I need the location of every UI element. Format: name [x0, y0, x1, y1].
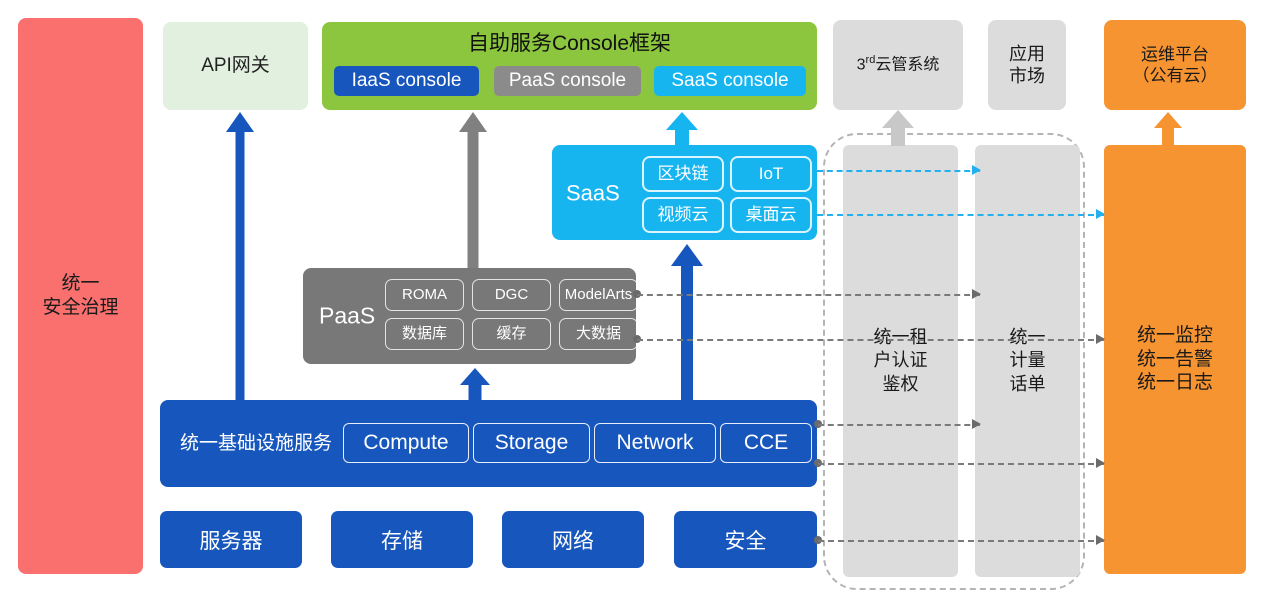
- ops-platform-label: 运维平台 （公有云）: [1133, 44, 1218, 87]
- paas-console-chip[interactable]: PaaS console: [494, 66, 641, 96]
- iaas-bar[interactable]: 统一基础设施服务 Compute Storage Network CCE: [160, 400, 817, 487]
- security-governance-column[interactable]: 统一 安全治理: [18, 18, 143, 574]
- dashed-iaas-to-ops-column: [818, 463, 1104, 465]
- saas-chip-desktop-cloud[interactable]: 桌面云: [730, 197, 812, 233]
- arrowhead-paas-to-billing-column: [972, 289, 981, 299]
- paas-chip-modelarts[interactable]: ModelArts: [559, 279, 638, 311]
- metering-billing-column[interactable]: 统一 计量 话单: [975, 145, 1080, 577]
- console-framework-title: 自助服务Console框架: [322, 31, 817, 57]
- paas-chip-roma[interactable]: ROMA: [385, 279, 464, 311]
- iaas-label: 统一基础设施服务: [180, 432, 332, 456]
- dashed-saas-to-ops-column: [817, 214, 1104, 216]
- bottom-box-network[interactable]: 网络: [502, 511, 644, 568]
- ops-monitoring-label: 统一监控 统一告警 统一日志: [1137, 324, 1213, 395]
- saas-chip-video-cloud[interactable]: 视频云: [642, 197, 724, 233]
- dashed-iaas-to-billing-column: [818, 424, 980, 426]
- arrow-shared-services-to-third-party-cloud: [882, 110, 914, 146]
- iaas-console-label: IaaS console: [352, 69, 462, 93]
- tenant-auth-label: 统一租 户认证 鉴权: [874, 326, 928, 396]
- app-market-label: 应用 市场: [1009, 43, 1045, 88]
- security-governance-label: 统一 安全治理: [42, 272, 118, 320]
- ops-monitoring-column[interactable]: 统一监控 统一告警 统一日志: [1104, 145, 1246, 574]
- paas-chip-database[interactable]: 数据库: [385, 318, 464, 350]
- iaas-console-chip[interactable]: IaaS console: [334, 66, 479, 96]
- ops-platform-box[interactable]: 运维平台 （公有云）: [1104, 20, 1246, 110]
- saas-console-chip[interactable]: SaaS console: [654, 66, 806, 96]
- arrowhead-iaas-to-ops-column: [1096, 458, 1105, 468]
- arrow-saas-to-console: [666, 112, 698, 145]
- paas-label: PaaS: [319, 302, 375, 331]
- iaas-chip-compute[interactable]: Compute: [343, 423, 469, 463]
- paas-chip-cache[interactable]: 缓存: [472, 318, 551, 350]
- saas-label: SaaS: [566, 179, 620, 207]
- console-framework-box[interactable]: 自助服务Console框架 IaaS console PaaS console …: [322, 22, 817, 110]
- saas-chip-iot[interactable]: IoT: [730, 156, 812, 192]
- arrowhead-saas-to-billing-column: [972, 165, 981, 175]
- arrowhead-paas-to-ops-column: [1096, 334, 1105, 344]
- arrow-iaas-to-saas: [671, 244, 703, 400]
- api-gateway-box[interactable]: API网关: [163, 22, 308, 110]
- saas-console-label: SaaS console: [671, 69, 788, 93]
- arrowhead-bottom-row-to-ops-column: [1096, 535, 1105, 545]
- iaas-chip-cce[interactable]: CCE: [720, 423, 812, 463]
- arrow-paas-to-console: [459, 112, 487, 268]
- arrow-iaas-to-paas: [460, 368, 490, 400]
- dashed-saas-to-billing-column: [817, 170, 980, 172]
- arrow-ops-column-to-ops-platform: [1154, 112, 1182, 146]
- arrow-iaas-to-api-gateway: [226, 112, 254, 400]
- paas-console-label: PaaS console: [509, 69, 626, 93]
- saas-chip-blockchain[interactable]: 区块链: [642, 156, 724, 192]
- app-market-box[interactable]: 应用 市场: [988, 20, 1066, 110]
- paas-chip-bigdata[interactable]: 大数据: [559, 318, 638, 350]
- arrowhead-saas-to-ops-column: [1096, 209, 1105, 219]
- paas-box[interactable]: PaaS ROMA DGC ModelArts 数据库 缓存 大数据: [303, 268, 636, 364]
- third-party-cloud-mgmt-label: 3rd云管系统: [857, 54, 940, 75]
- iaas-chip-network[interactable]: Network: [594, 423, 716, 463]
- metering-billing-label: 统一 计量 话单: [1010, 326, 1046, 396]
- paas-chip-dgc[interactable]: DGC: [472, 279, 551, 311]
- tenant-auth-column[interactable]: 统一租 户认证 鉴权: [843, 145, 958, 577]
- iaas-chip-storage[interactable]: Storage: [473, 423, 590, 463]
- dashed-bottom-row-to-ops-column: [818, 540, 1104, 542]
- api-gateway-label: API网关: [201, 54, 270, 78]
- saas-box[interactable]: SaaS 区块链 IoT 视频云 桌面云: [552, 145, 817, 240]
- dashed-paas-to-ops-column: [637, 339, 1104, 341]
- third-party-cloud-mgmt-box[interactable]: 3rd云管系统: [833, 20, 963, 110]
- bottom-box-storage[interactable]: 存储: [331, 511, 473, 568]
- bottom-box-security[interactable]: 安全: [674, 511, 817, 568]
- bottom-box-server[interactable]: 服务器: [160, 511, 302, 568]
- dashed-paas-to-billing-column: [637, 294, 980, 296]
- architecture-diagram: 统一 安全治理 API网关 自助服务Console框架 IaaS console…: [0, 0, 1265, 605]
- arrowhead-iaas-to-billing-column: [972, 419, 981, 429]
